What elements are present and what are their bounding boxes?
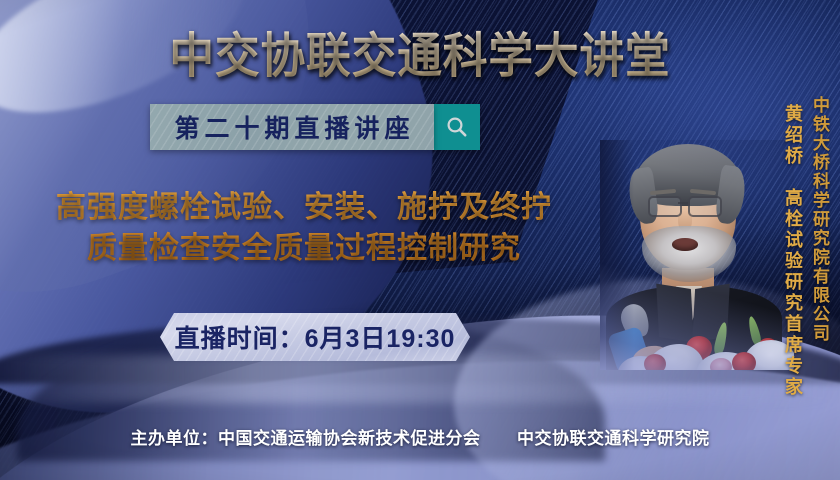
footer-organizer-secondary: 中交协联交通科学研究院 bbox=[517, 429, 710, 448]
subtitle-bar-group: 第二十期直播讲座 bbox=[150, 104, 480, 150]
search-button[interactable] bbox=[434, 104, 480, 150]
footer-organizer-primary: 主办单位：中国交通运输协会新技术促进分会 bbox=[131, 429, 481, 448]
topic-title: 高强度螺栓试验、安装、施拧及终拧 质量检查安全质量过程控制研究 bbox=[14, 188, 594, 269]
broadcast-time-label: 直播时间：6月3日19:30 bbox=[175, 319, 456, 355]
search-icon bbox=[445, 115, 469, 139]
main-title: 中交协联交通科学大讲堂 bbox=[29, 16, 810, 86]
topic-title-line2: 质量检查安全质量过程控制研究 bbox=[14, 229, 594, 270]
broadcast-time-badge: 直播时间：6月3日19:30 bbox=[160, 313, 470, 361]
subtitle-bar: 第二十期直播讲座 bbox=[150, 104, 434, 150]
topic-title-line1: 高强度螺栓试验、安装、施拧及终拧 bbox=[56, 191, 552, 224]
photo-bottom-fade bbox=[600, 140, 794, 370]
footer-organizers: 主办单位：中国交通运输协会新技术促进分会 中交协联交通科学研究院 bbox=[0, 424, 840, 449]
speaker-photo bbox=[600, 140, 794, 370]
subtitle-label: 第二十期直播讲座 bbox=[169, 109, 414, 145]
speaker-name-title: 黄绍桥 高栓试验研究首席专家 bbox=[780, 104, 806, 398]
poster-root: 中交协联交通科学大讲堂 中交协联交通科学大讲堂 第二十期直播讲座 高强度螺栓试验… bbox=[0, 0, 840, 480]
speaker-organization: 中铁大桥科学研究院有限公司 bbox=[807, 96, 832, 343]
